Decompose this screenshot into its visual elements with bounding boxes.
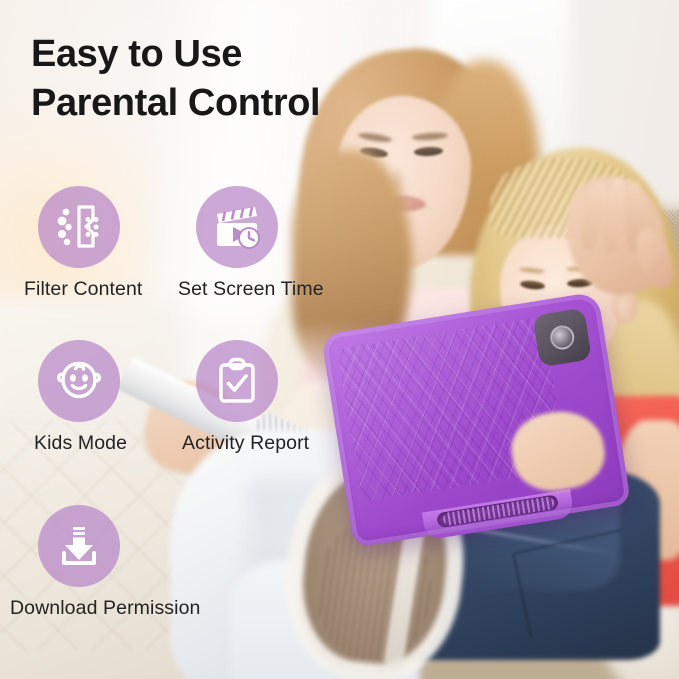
clipboard-check-icon: [211, 355, 263, 407]
baby-face-icon: [53, 355, 105, 407]
feature-label: Filter Content: [24, 278, 142, 301]
feature-label: Activity Report: [182, 432, 309, 455]
feature-set-screen-time[interactable]: Set Screen Time: [196, 186, 324, 301]
product-feature-banner: Easy to Use Parental Control: [0, 0, 679, 679]
download-permission-badge[interactable]: [38, 505, 120, 587]
feature-label: Download Permission: [10, 597, 200, 620]
filter-content-badge[interactable]: [38, 186, 120, 268]
feature-filter-content[interactable]: Filter Content: [38, 186, 142, 301]
activity-report-badge[interactable]: [196, 340, 278, 422]
feature-label: Kids Mode: [34, 432, 127, 455]
clapperboard-clock-icon: [211, 201, 263, 253]
headline-line-2: Parental Control: [31, 79, 361, 128]
feature-download-permission[interactable]: Download Permission: [38, 505, 200, 620]
feature-label: Set Screen Time: [178, 278, 324, 301]
headline-line-1: Easy to Use: [31, 30, 361, 79]
download-tray-icon: [53, 520, 105, 572]
page-title: Easy to Use Parental Control: [31, 30, 361, 128]
kids-mode-badge[interactable]: [38, 340, 120, 422]
filter-funnel-icon: [53, 201, 105, 253]
set-screen-time-badge[interactable]: [196, 186, 278, 268]
feature-kids-mode[interactable]: Kids Mode: [38, 340, 127, 455]
feature-activity-report[interactable]: Activity Report: [196, 340, 309, 455]
